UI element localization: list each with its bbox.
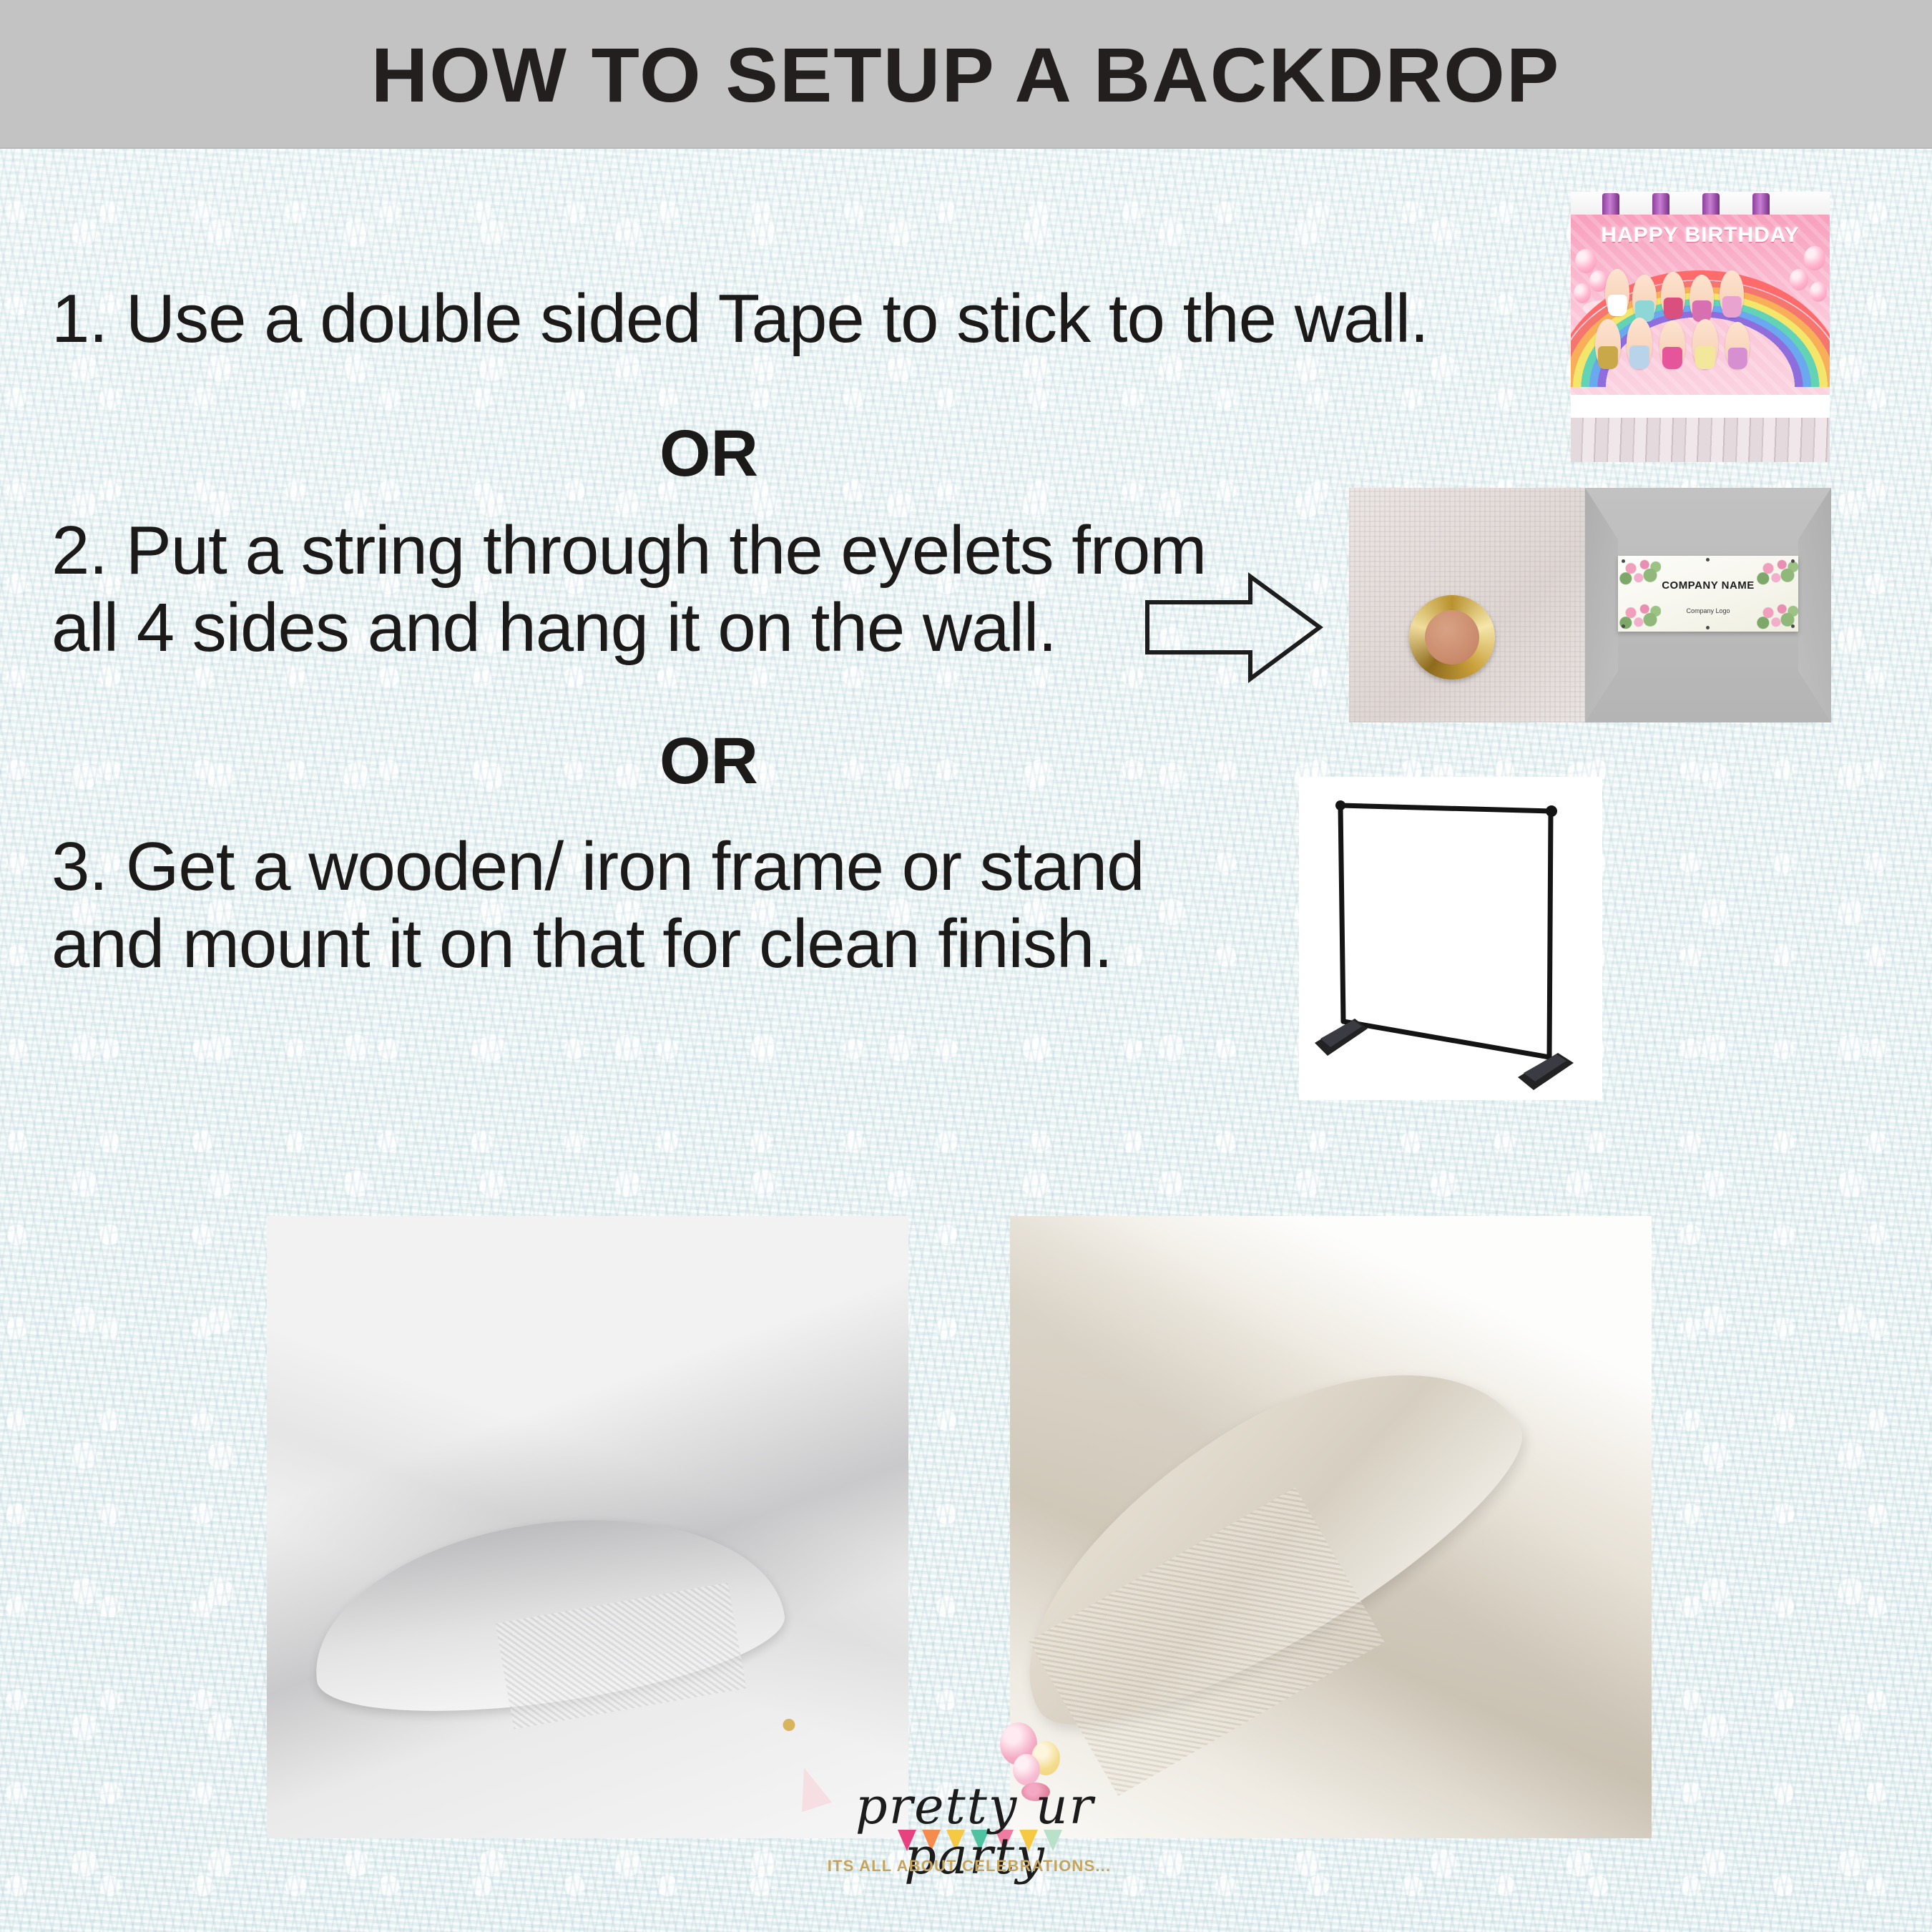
lol-doll — [1605, 269, 1629, 316]
company-logo-text: Company Logo — [1618, 607, 1798, 614]
lol-doll — [1632, 275, 1657, 322]
backdrop-clip — [1602, 193, 1619, 216]
backdrop-stand-icon — [1299, 777, 1602, 1100]
right-arrow-outline-icon — [1144, 572, 1323, 683]
lol-doll — [1595, 319, 1621, 369]
lol-doll — [1725, 322, 1750, 369]
lol-doll — [1720, 270, 1744, 318]
banner-grommet — [1791, 624, 1795, 628]
backdrop-clip — [1702, 193, 1720, 216]
lol-doll — [1627, 318, 1652, 369]
photo-company-banner: COMPANY NAME Company Logo — [1585, 488, 1831, 722]
wooden-floor-graphic — [1571, 418, 1830, 462]
banner-grommet — [1791, 559, 1795, 563]
balloon — [1804, 246, 1825, 270]
grommet-hole — [1425, 610, 1479, 665]
step-3-text: 3. Get a wooden/ iron frame or stand and… — [52, 828, 1267, 982]
banner-grommet — [1706, 558, 1710, 562]
banner-sheet: COMPANY NAME Company Logo — [1618, 556, 1798, 632]
header-bar: HOW TO SETUP A BACKDROP — [0, 0, 1932, 149]
photo-eyelet-grommet — [1349, 488, 1585, 722]
lol-doll — [1692, 319, 1718, 369]
or-separator-1: OR — [659, 416, 758, 491]
photo-backdrop-stand — [1299, 777, 1602, 1100]
balloon — [1810, 282, 1827, 302]
happy-birthday-text: HAPPY BIRTHDAY — [1571, 223, 1830, 247]
brand-logo: pretty ur party ITS ALL ABOUT CELEBRATIO… — [790, 1730, 1148, 1926]
balloon — [1790, 269, 1808, 290]
or-separator-2: OR — [659, 724, 758, 799]
photo-lol-birthday-backdrop: HAPPY BIRTHDAY — [1571, 192, 1830, 462]
step-2-text: 2. Put a string through the eyelets from… — [52, 512, 1310, 666]
lol-doll — [1661, 272, 1685, 319]
banner-grommet — [1706, 626, 1710, 629]
balloon — [1575, 249, 1597, 273]
backdrop-clip — [1652, 193, 1669, 216]
backdrop-clip — [1752, 193, 1770, 216]
lol-doll — [1690, 275, 1714, 322]
backdrop-pink-panel: HAPPY BIRTHDAY — [1571, 215, 1830, 395]
lol-doll — [1659, 320, 1685, 369]
banner-grommet — [1622, 624, 1625, 628]
step-1-text: 1. Use a double sided Tape to stick to t… — [52, 280, 1568, 358]
brand-tagline-text: ITS ALL ABOUT CELEBRATIONS... — [790, 1857, 1148, 1875]
banner-grommet — [1622, 559, 1625, 563]
company-name-text: COMPANY NAME — [1618, 579, 1798, 592]
balloon — [1574, 283, 1591, 303]
page-title: HOW TO SETUP A BACKDROP — [371, 30, 1561, 119]
grommet-ring — [1409, 595, 1495, 680]
